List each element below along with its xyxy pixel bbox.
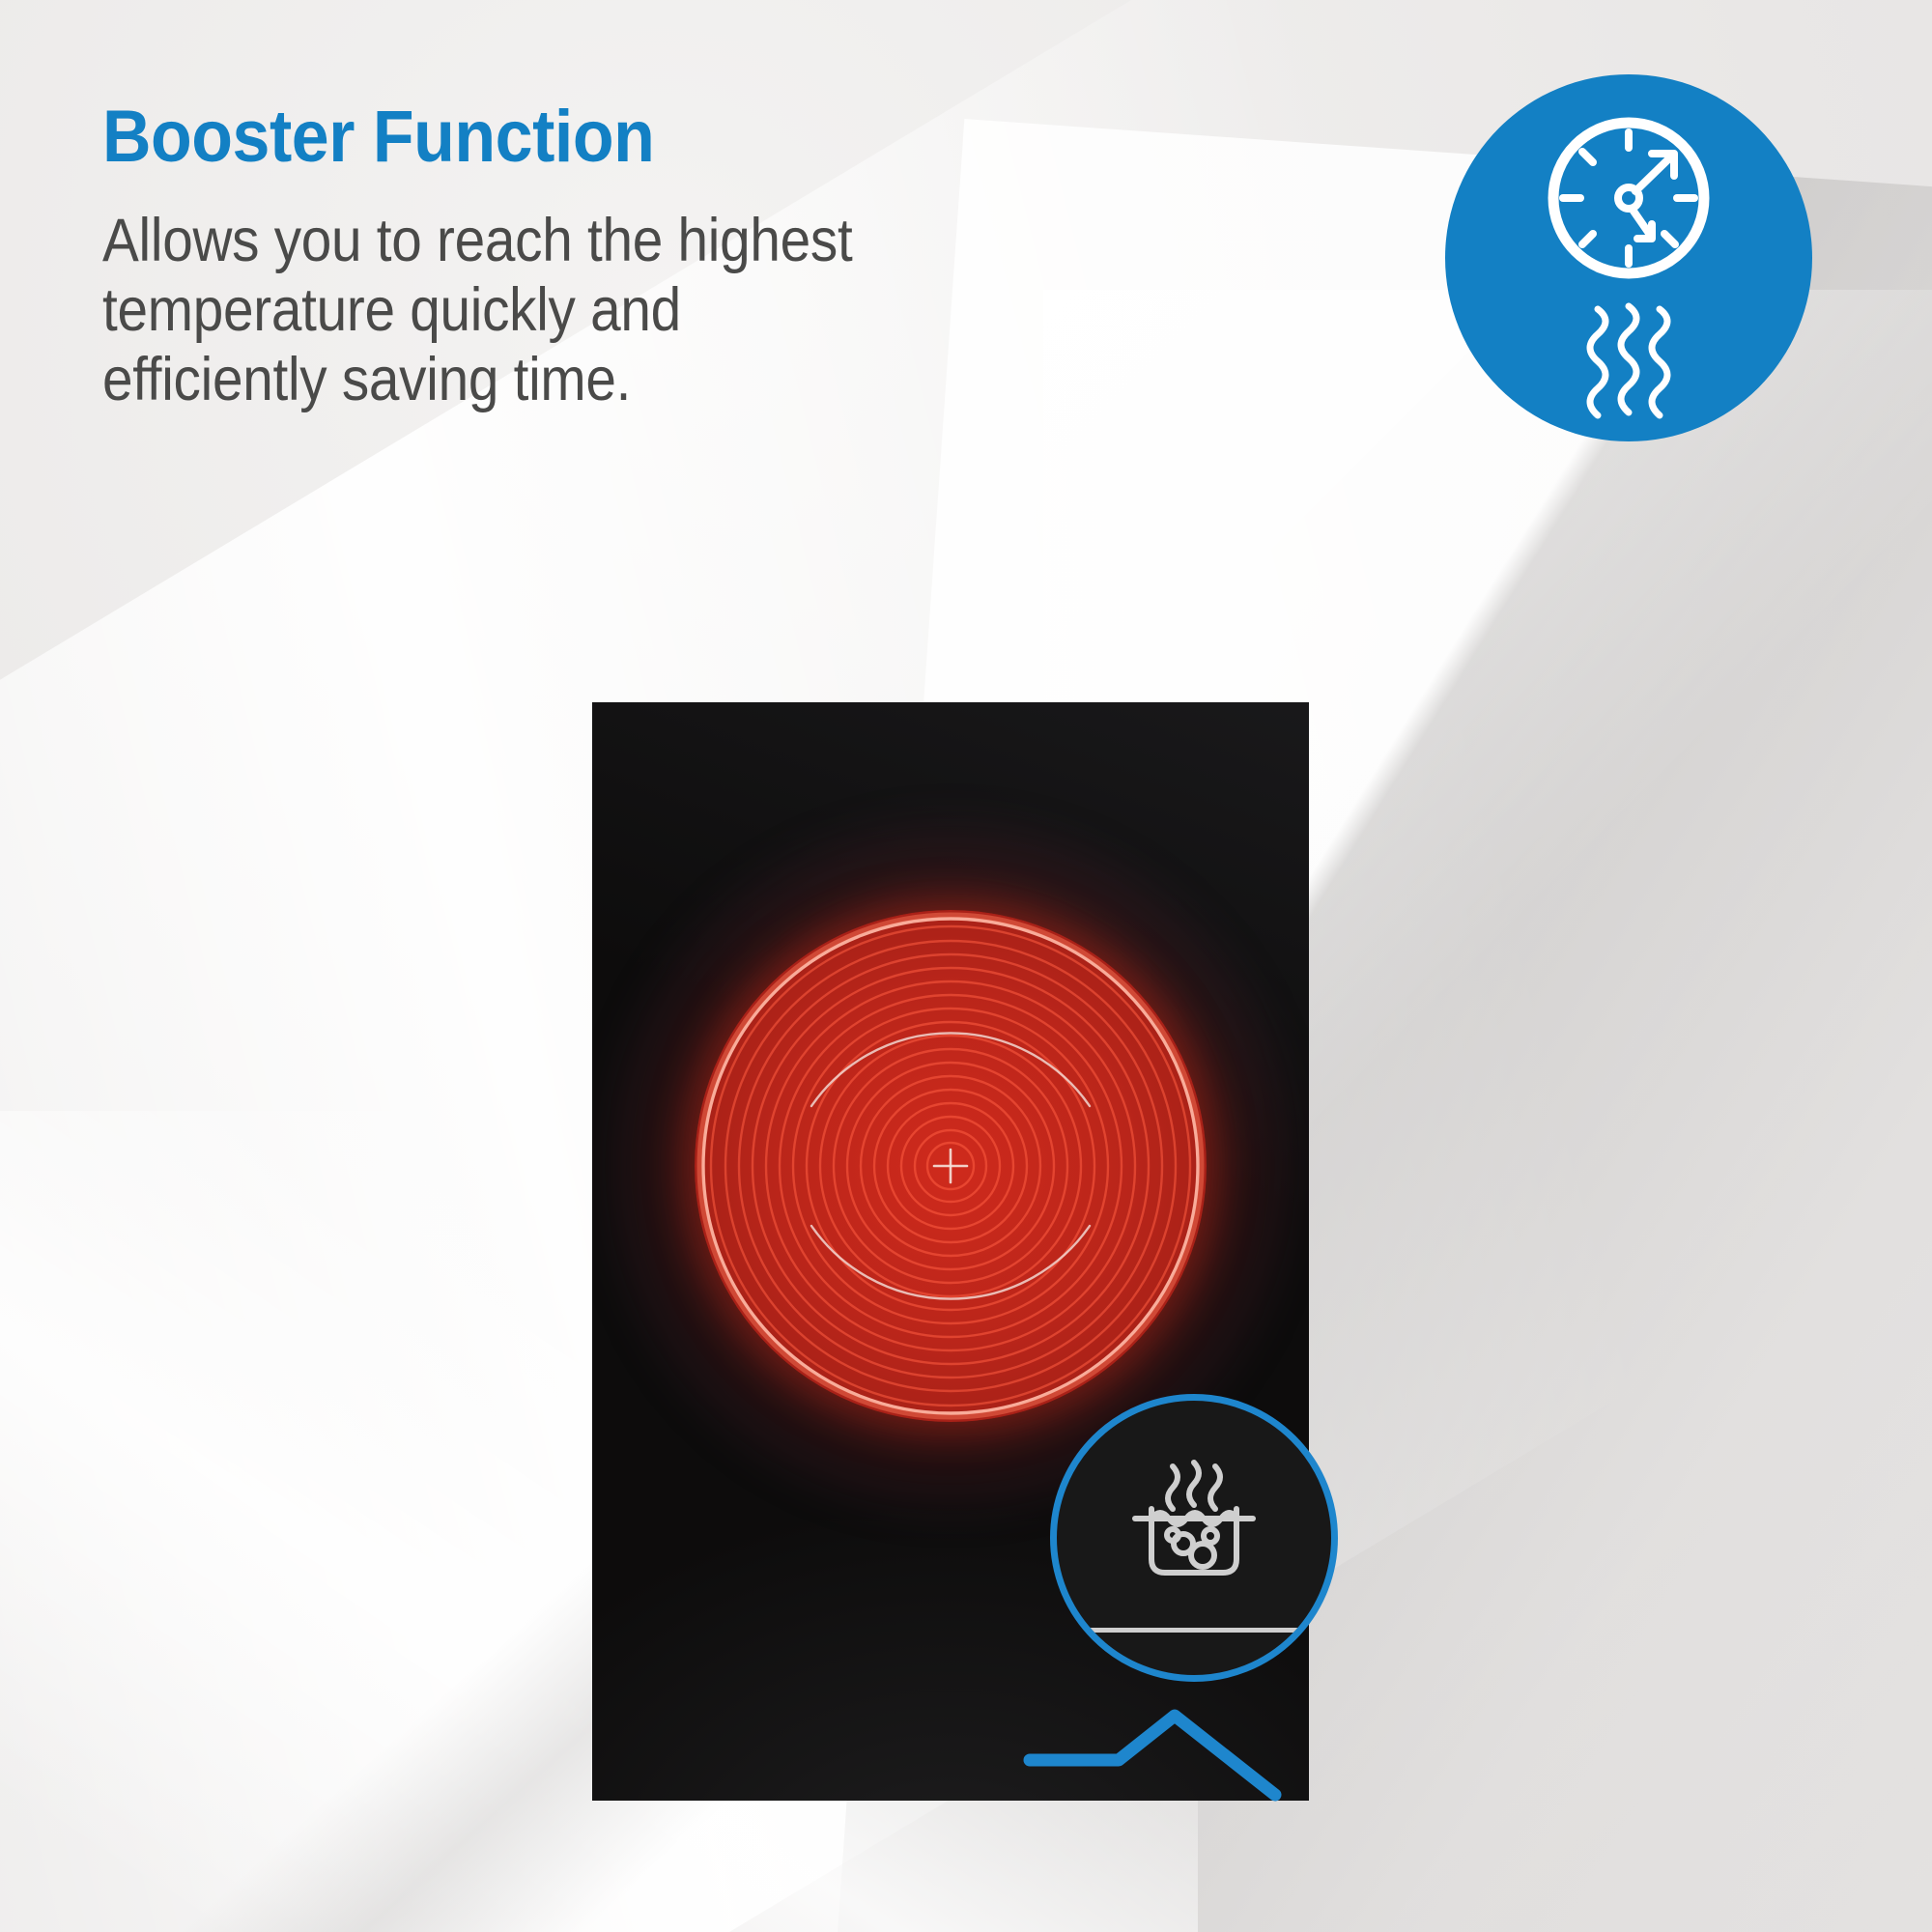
description-line: efficiently saving time. xyxy=(102,346,954,415)
callout-slider-line xyxy=(1068,1628,1327,1633)
callout-boiling-pot xyxy=(1127,1459,1261,1586)
cooking-zone-rings xyxy=(695,910,1207,1422)
poster-canvas: Booster Function Allows you to reach the… xyxy=(0,0,1932,1932)
cooking-zone[interactable] xyxy=(695,910,1207,1422)
page-title: Booster Function xyxy=(102,100,974,174)
booster-boil-callout xyxy=(1050,1394,1338,1682)
boiling-pot-icon xyxy=(1127,1459,1261,1586)
clock-with-heat-waves-icon xyxy=(1445,74,1812,441)
copy-block: Booster Function Allows you to reach the… xyxy=(102,100,1049,414)
description-line: Allows you to reach the highest xyxy=(102,207,954,276)
page-description: Allows you to reach the highest temperat… xyxy=(102,207,954,414)
description-line: temperature quickly and xyxy=(102,276,954,346)
booster-timer-badge xyxy=(1445,74,1812,441)
